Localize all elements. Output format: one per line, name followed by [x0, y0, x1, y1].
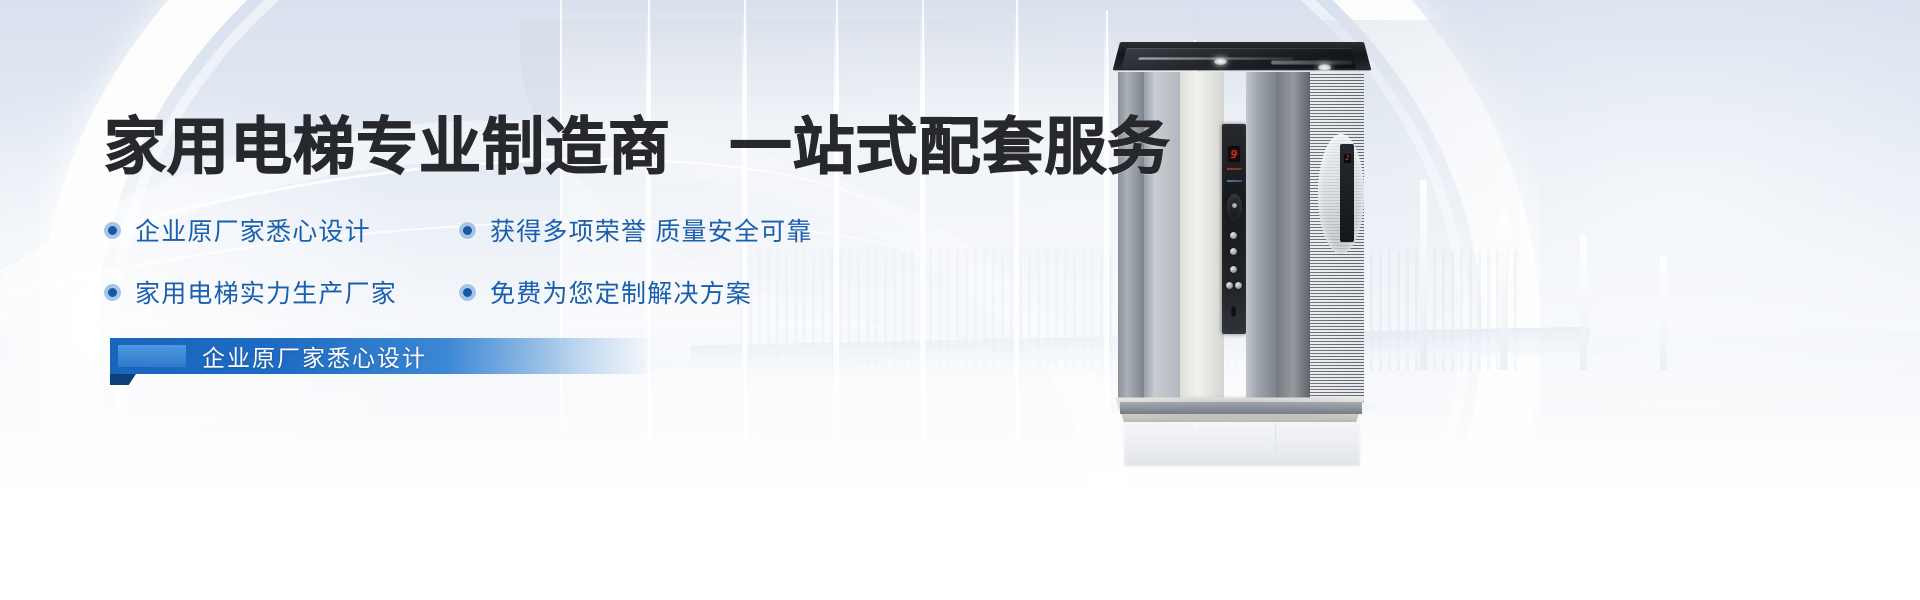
door-close-button-icon[interactable]	[1226, 282, 1233, 289]
elevator-control-panel[interactable]: 9	[1222, 124, 1246, 334]
promo-banner: 9 2	[0, 0, 1920, 600]
bullet-dot-icon	[104, 222, 121, 239]
banner-content: 家用电梯专业制造商 一站式配套服务 企业原厂家悉心设计 获得多项荣誉 质量安全可…	[0, 0, 1100, 600]
floor-indicator-display: 9	[1228, 146, 1240, 162]
list-item: 获得多项荣誉 质量安全可靠	[459, 212, 879, 248]
tag-notch-shape	[110, 374, 136, 385]
ceiling-spotlight-icon	[1214, 58, 1227, 65]
headline-part-2: 一站式配套服务	[729, 113, 1170, 182]
mirrored-floor-display: 2	[1344, 154, 1351, 163]
ceiling-spotlight-icon	[1318, 64, 1331, 71]
bullet-dot-icon	[459, 284, 476, 301]
highlight-tag-bar: 企业原厂家悉心设计	[110, 338, 655, 374]
headline-part-1: 家用电梯专业制造商	[104, 113, 671, 182]
elevator-mirror-wall: 2	[1310, 72, 1364, 402]
page-title: 家用电梯专业制造商 一站式配套服务	[104, 114, 1171, 182]
tag-accent-chip	[118, 345, 186, 367]
elevator-ceiling	[1113, 42, 1372, 70]
door-open-button-icon[interactable]	[1230, 266, 1237, 273]
feature-label: 获得多项荣誉 质量安全可靠	[490, 212, 813, 248]
elevator-cabin-image: 9 2	[1118, 42, 1364, 410]
bullet-dot-icon	[459, 222, 476, 239]
mirrored-control-panel: 2	[1340, 144, 1354, 242]
elevator-steel-column-c	[1246, 72, 1276, 402]
floor-button-icon[interactable]	[1230, 248, 1237, 255]
list-item: 家用电梯实力生产厂家	[104, 274, 459, 310]
feature-label: 企业原厂家悉心设计	[135, 212, 371, 248]
tag-label: 企业原厂家悉心设计	[202, 339, 427, 373]
floor-indicator-value: 9	[1231, 149, 1238, 160]
elevator-steel-column-d	[1276, 72, 1310, 402]
speaker-grille-icon	[1227, 194, 1242, 220]
mirrored-floor-value: 2	[1344, 154, 1351, 163]
glow-right	[1300, 0, 1920, 460]
feature-row: 企业原厂家悉心设计 获得多项荣誉 质量安全可靠	[104, 212, 884, 248]
bullet-dot-icon	[104, 284, 121, 301]
feature-row: 家用电梯实力生产厂家 免费为您定制解决方案	[104, 274, 884, 310]
key-slot-icon	[1231, 306, 1236, 317]
elevator-door-panel-b	[1180, 72, 1224, 402]
list-item: 企业原厂家悉心设计	[104, 212, 459, 248]
list-item: 免费为您定制解决方案	[459, 274, 879, 310]
feature-list: 企业原厂家悉心设计 获得多项荣誉 质量安全可靠 家用电梯实力生产厂家 免费为您定…	[104, 212, 884, 336]
alarm-button-icon[interactable]	[1235, 282, 1242, 289]
feature-label: 免费为您定制解决方案	[490, 274, 752, 310]
feature-label: 家用电梯实力生产厂家	[135, 274, 397, 310]
elevator-floor-reflection	[1124, 410, 1360, 466]
floor-button-icon[interactable]	[1230, 232, 1237, 239]
